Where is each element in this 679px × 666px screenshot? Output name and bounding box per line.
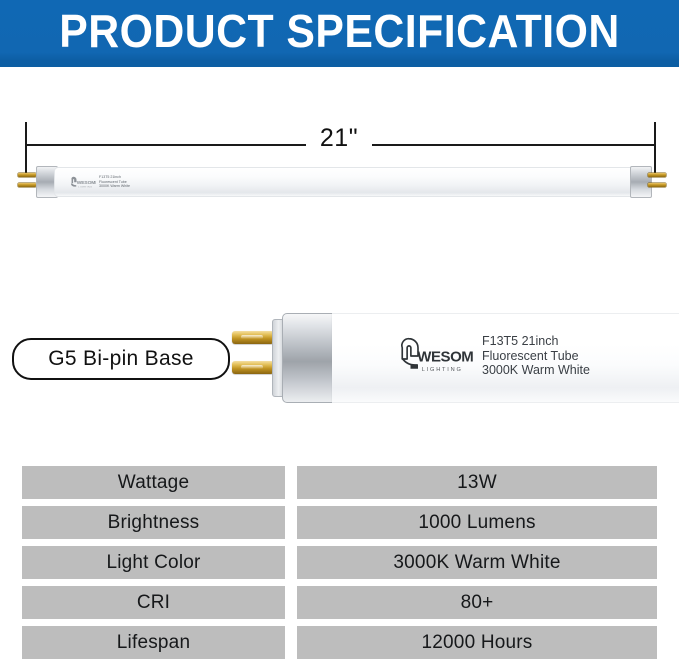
tube-large-color-line: 3000K Warm White (482, 363, 590, 378)
awesome-lighting-logo-icon: WESOME LIGHTING (398, 335, 474, 377)
spec-key-cri: CRI (22, 586, 285, 619)
spec-value-lifespan: 12000 Hours (297, 626, 657, 659)
tube-large-model-line: F13T5 21inch (482, 334, 590, 349)
specification-table: Wattage 13W Brightness 1000 Lumens Light… (0, 466, 679, 666)
bipin-connector-left-icon (18, 172, 38, 190)
dimension-line-right-icon (372, 144, 655, 146)
spec-key-lifespan: Lifespan (22, 626, 285, 659)
svg-text:LIGHTING: LIGHTING (78, 186, 92, 188)
spec-value-wattage: 13W (297, 466, 657, 499)
bipin-connector-closeup-icon (232, 331, 276, 379)
tube-end-cap-closeup (282, 313, 338, 403)
page-title: PRODUCT SPECIFICATION (24, 0, 655, 61)
dimension-line-left-icon (25, 144, 306, 146)
table-row: CRI 80+ (0, 586, 679, 619)
tube-small-print-label: WESOME LIGHTING F13T5 21inch Fluorescent… (70, 170, 190, 194)
g5-bipin-base-label: G5 Bi-pin Base (48, 347, 193, 371)
tube-small-print-text: F13T5 21inch Fluorescent Tube 3000K Warm… (99, 175, 130, 189)
spec-key-wattage: Wattage (22, 466, 285, 499)
table-row: Lifespan 12000 Hours (0, 626, 679, 659)
bipin-connector-right-icon (648, 172, 668, 190)
svg-text:LIGHTING: LIGHTING (422, 367, 463, 373)
g5-bipin-base-callout: G5 Bi-pin Base (12, 338, 230, 380)
dimension-annotation: 21" (0, 110, 679, 170)
spec-value-cri: 80+ (297, 586, 657, 619)
svg-text:WESOME: WESOME (77, 180, 96, 186)
table-row: Wattage 13W (0, 466, 679, 499)
dimension-label: 21" (300, 124, 378, 153)
table-row: Light Color 3000K Warm White (0, 546, 679, 579)
tube-large-print-label: WESOME LIGHTING F13T5 21inch Fluorescent… (398, 330, 668, 382)
svg-text:WESOME: WESOME (417, 348, 474, 365)
spec-key-light-color: Light Color (22, 546, 285, 579)
awesome-lighting-logo-small-icon: WESOME LIGHTING (70, 175, 96, 190)
tube-large-print-text: F13T5 21inch Fluorescent Tube 3000K Warm… (482, 334, 590, 378)
table-row: Brightness 1000 Lumens (0, 506, 679, 539)
spec-key-brightness: Brightness (22, 506, 285, 539)
spec-value-light-color: 3000K Warm White (297, 546, 657, 579)
spec-value-brightness: 1000 Lumens (297, 506, 657, 539)
header-banner: PRODUCT SPECIFICATION (0, 0, 679, 67)
tube-small-color-line: 3000K Warm White (99, 184, 130, 189)
tube-large-type-line: Fluorescent Tube (482, 349, 590, 364)
